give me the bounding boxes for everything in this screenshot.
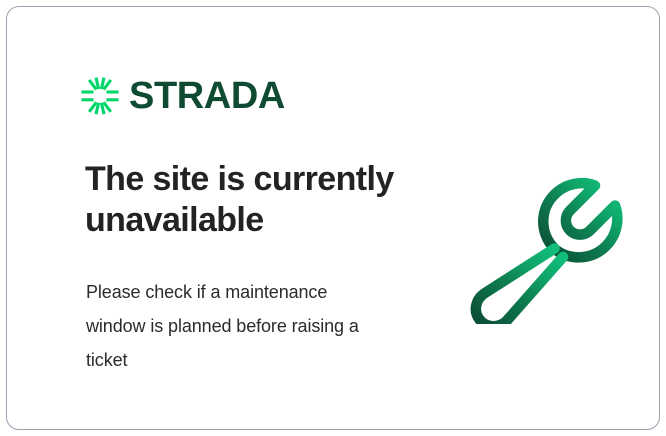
error-page: STRADA The site is currently unavailable… [0,0,666,436]
wrench-icon [459,152,627,324]
brand-wordmark: STRADA [129,77,285,115]
page-description: Please check if a maintenance window is … [86,275,391,377]
brand-logo: STRADA [80,73,285,119]
page-title: The site is currently unavailable [85,159,415,241]
status-card: STRADA The site is currently unavailable… [6,6,660,430]
strada-asterisk-icon [80,76,120,116]
